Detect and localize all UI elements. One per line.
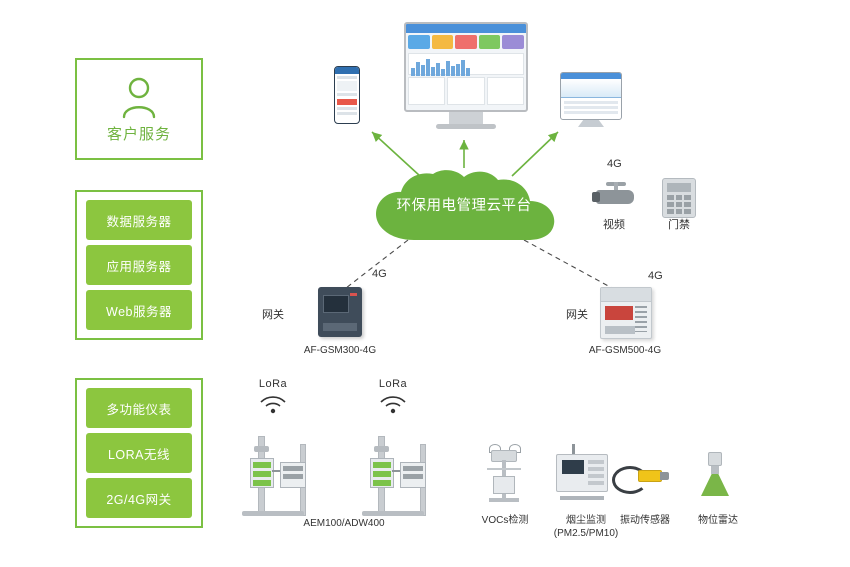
access-control-label: 门禁 [668, 216, 690, 232]
monitor-stand [449, 112, 483, 124]
sensor-vibration-label: 振动传感器 [608, 514, 682, 527]
panel-servers: 数据服务器 应用服务器 Web服务器 [75, 190, 203, 340]
dust-monitor-body [556, 454, 608, 492]
lora-label-2: LoRa [366, 378, 420, 390]
phone-line [337, 76, 357, 79]
kpi-card [455, 35, 477, 49]
camera-label: 视频 [603, 216, 625, 232]
tablet-line [564, 111, 618, 114]
gateway-left-port [323, 323, 357, 331]
camera-link-label: 4G [607, 158, 622, 170]
chip-multifunction-meter[interactable]: 多功能仪表 [86, 388, 192, 428]
meter-clamp [374, 446, 389, 452]
gateway-right-body [600, 287, 652, 339]
sensor-radar-label: 物位雷达 [686, 514, 750, 527]
gateway-af-gsm500[interactable] [600, 287, 650, 337]
lora-badge-1: LoRa [246, 378, 300, 419]
dust-monitor-foot [560, 496, 604, 500]
access-keypad [667, 195, 691, 214]
sensor-radar-level[interactable] [696, 448, 736, 500]
kpi-card [432, 35, 454, 49]
lora-badge-2: LoRa [366, 378, 420, 419]
sensor-dust-monitor[interactable] [556, 444, 612, 500]
gateway-left-link-label: 4G [372, 268, 387, 280]
meter-base [362, 511, 424, 516]
access-control-device[interactable] [662, 178, 696, 218]
gateway-af-gsm300[interactable] [318, 287, 362, 337]
radar-neck [711, 466, 719, 474]
dashboard-panel [487, 77, 524, 105]
diagram-canvas: 客户服务 数据服务器 应用服务器 Web服务器 多功能仪表 LORA无线 2G/… [0, 0, 850, 567]
chip-app-server[interactable]: 应用服务器 [86, 245, 192, 285]
sensor-vocs[interactable] [483, 442, 527, 504]
cloud-platform[interactable]: 环保用电管理云平台 [368, 170, 560, 244]
desktop-monitor[interactable] [404, 22, 528, 140]
meter-module [250, 458, 274, 488]
voc-arm [487, 468, 521, 470]
dashboard-topbar [406, 24, 526, 33]
access-screen [667, 183, 691, 192]
kpi-card [479, 35, 501, 49]
meter-base [242, 511, 304, 516]
dashboard-lower-panels [406, 77, 526, 107]
video-camera[interactable] [592, 182, 642, 212]
phone-line [337, 93, 357, 96]
meter-device-1[interactable] [236, 436, 332, 516]
kpi-card [502, 35, 524, 49]
kpi-card [408, 35, 430, 49]
dashboard-panel [408, 77, 445, 105]
vibration-sensor-tip [660, 472, 669, 480]
gateway-right-port [605, 326, 635, 334]
meter-model-label: AEM100/ADW400 [303, 518, 384, 529]
camera-lens [592, 192, 600, 202]
gateway-right-vents [635, 306, 647, 332]
voc-base [489, 498, 519, 502]
lora-label-1: LoRa [246, 378, 300, 390]
gateway-left-body [318, 287, 362, 337]
monitor-base [436, 124, 496, 129]
gateway-right-link-label: 4G [648, 270, 663, 282]
panel-devices: 多功能仪表 LORA无线 2G/4G网关 [75, 378, 203, 528]
dust-monitor-screen [562, 460, 584, 474]
tablet-stand [578, 120, 604, 127]
tablet-line [564, 106, 618, 109]
radar-horn-antenna [701, 474, 729, 496]
gateway-left-screen [323, 295, 349, 313]
camera-body [596, 190, 634, 204]
phone-line [337, 112, 357, 115]
phone-alert-bar [337, 99, 357, 105]
wifi-icon [378, 392, 408, 414]
vibration-sensor-head [638, 470, 662, 482]
bar-chart [409, 54, 523, 78]
sensor-vibration[interactable] [612, 452, 674, 498]
chip-web-server[interactable]: Web服务器 [86, 290, 192, 330]
chip-data-server[interactable]: 数据服务器 [86, 200, 192, 240]
chip-lora-wireless[interactable]: LORA无线 [86, 433, 192, 473]
dashboard-chart-wide [408, 53, 524, 75]
meter-device-2[interactable] [356, 436, 452, 516]
tablet-line [564, 101, 618, 104]
meter-terminal [280, 462, 306, 488]
gateway-right-tag: 网关 [566, 306, 588, 322]
gateway-right-model-label: AF-GSM500-4G [589, 345, 661, 356]
dashboard-panel [447, 77, 484, 105]
dust-monitor-keypad [588, 460, 604, 486]
gateway-right-display [605, 306, 633, 320]
customer-service-label: 客户服务 [107, 123, 171, 144]
phone-chart [337, 81, 357, 91]
gateway-left-model-label: AF-GSM300-4G [304, 345, 376, 356]
gateway-left-tag: 网关 [262, 306, 284, 322]
phone-line [337, 107, 357, 110]
meter-terminal [400, 462, 426, 488]
dashboard-kpi-row [406, 33, 526, 51]
gateway-left-indicator [350, 293, 357, 296]
panel-customer-service[interactable]: 客户服务 [75, 58, 203, 160]
chip-2g4g-gateway[interactable]: 2G/4G网关 [86, 478, 192, 518]
meter-clamp [254, 446, 269, 452]
phone-statusbar [335, 67, 359, 74]
voc-enclosure [493, 476, 515, 494]
tablet-trend-chart [561, 79, 621, 98]
user-icon [119, 75, 159, 121]
wifi-icon [258, 392, 288, 414]
mobile-phone[interactable] [334, 66, 360, 124]
monitor-screen [404, 22, 528, 112]
tablet-device[interactable] [560, 72, 622, 120]
tablet-body [561, 98, 621, 119]
meter-module [370, 458, 394, 488]
radar-housing [708, 452, 722, 466]
sensor-vocs-label: VOCs检测 [473, 514, 537, 527]
cloud-platform-label: 环保用电管理云平台 [368, 194, 560, 215]
gateway-right-top [601, 288, 651, 302]
